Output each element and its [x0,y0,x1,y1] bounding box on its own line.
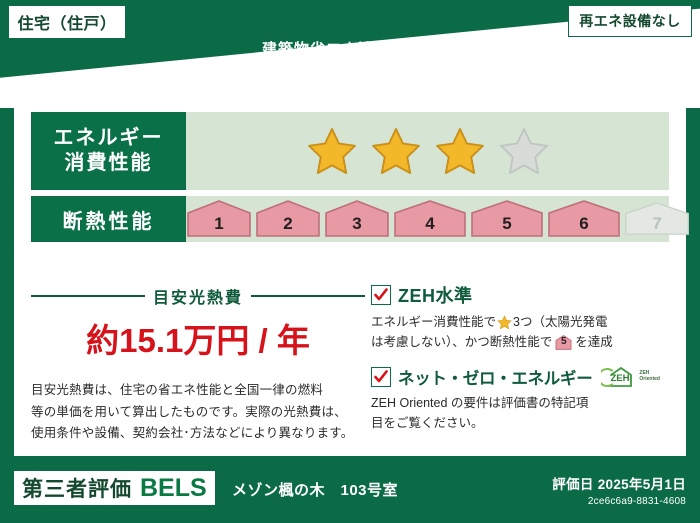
badge-renewable-equipment: 再エネ設備なし [568,5,692,37]
utility-cost-heading-text: 目安光熱費 [153,284,243,308]
evaluation-date: 評価日 2025年5月1日 [552,473,686,493]
heading-rule-left [31,295,145,297]
insulation-level-7: 7 [624,199,690,239]
zeh-standard-title: ZEH水準 [398,282,473,308]
energy-performance-label: エネルギー 消費性能 [31,112,186,190]
utility-cost-note-line-2: 等の単価を用いて算出したものです。実際の光熱費は、 [31,402,365,424]
utility-cost-note: 目安光熱費は、住宅の省エネ性能と全国一律の燃料 等の単価を用いて算出したものです… [31,380,365,445]
star-rating [306,126,550,176]
zeh-column: ZEH水準 エネルギー消費性能で 3つ（太陽光発電 は考慮しない）、かつ断熱性能… [371,282,665,445]
insulation-level-5-icon: 5 [555,335,572,350]
insulation-level-scale: 1234567 [186,199,690,239]
insulation-level-2: 2 [255,199,321,239]
net-zero-energy-body-line-1: ZEH Oriented の要件は評価書の特記項 [371,393,665,413]
zeh-standard-text-b2: を達成 [575,332,613,352]
zeh-standard-body: エネルギー消費性能で 3つ（太陽光発電 は考慮しない）、かつ断熱性能で [371,312,665,353]
insulation-level-5-number: 5 [555,334,572,350]
footer-meta: 評価日 2025年5月1日 2ce6c6a9-8831-4608 [552,473,686,507]
star-icon-filled [434,126,486,176]
zeh-logo-caption: ZEH Oriented [639,371,660,382]
insulation-level-3: 3 [324,199,390,239]
star-icon [497,315,512,330]
net-zero-energy-title: ネット・ゼロ・エネルギー [398,365,592,389]
zeh-standard-body-line-2: は考慮しない）、かつ断熱性能で 5 を達成 [371,332,665,352]
insulation-rating-container: 1234567 [186,196,690,242]
zeh-standard-body-line-1: エネルギー消費性能で 3つ（太陽光発電 [371,312,665,332]
insulation-level-number: 3 [324,214,390,234]
energy-label-line1: エネルギー [54,126,164,151]
net-zero-energy-body-line-2: 目をご覧ください。 [371,413,665,433]
insulation-level-number: 6 [547,214,621,234]
heading-rule-right [251,295,365,297]
svg-text:ZEH: ZEH [611,373,630,384]
evaluation-id: 2ce6c6a9-8831-4608 [552,496,686,507]
utility-cost-heading: 目安光熱費 [31,284,365,308]
zeh-standard-text-a2: 3つ（太陽光発電 [513,312,607,332]
net-zero-energy-block: ネット・ゼロ・エネルギー ZEH ZEH Oriented [371,365,665,434]
bels-energy-label: 建築物省エネ法に基づく 省エネ性能ラベル 住宅（住戸） 再エネ設備なし エネルギ… [0,0,700,523]
label-footer: 第三者評価 BELS メゾン楓の木 103号室 評価日 2025年5月1日 2c… [0,463,700,523]
star-icon-filled [306,126,358,176]
insulation-level-number: 5 [470,214,544,234]
utility-cost-column: 目安光熱費 約15.1万円 / 年 目安光熱費は、住宅の省エネ性能と全国一律の燃… [31,282,371,445]
zeh-logo-caption-line-2: Oriented [639,376,660,382]
lower-columns: 目安光熱費 約15.1万円 / 年 目安光熱費は、住宅の省エネ性能と全国一律の燃… [31,282,671,445]
zeh-standard-text-b1: は考慮しない）、かつ断熱性能で [371,332,552,352]
zeh-standard-heading: ZEH水準 [371,282,665,308]
check-icon [373,369,389,385]
utility-cost-value: 約15.1万円 / 年 [31,314,365,362]
energy-performance-row: エネルギー 消費性能 [31,112,669,190]
zeh-house-icon: ZEH [601,366,637,388]
net-zero-energy-body: ZEH Oriented の要件は評価書の特記項 目をご覧ください。 [371,393,665,434]
insulation-level-6: 6 [547,199,621,239]
check-icon [373,287,389,303]
zeh-standard-block: ZEH水準 エネルギー消費性能で 3つ（太陽光発電 は考慮しない）、かつ断熱性能… [371,282,665,353]
utility-cost-note-line-3: 使用条件や設備、契約会社･方法などにより異なります。 [31,423,365,445]
utility-cost-note-line-1: 目安光熱費は、住宅の省エネ性能と全国一律の燃料 [31,380,365,402]
net-zero-energy-checkbox[interactable] [371,367,391,387]
bels-badge: 第三者評価 BELS [14,471,215,505]
energy-label-line2: 消費性能 [65,151,153,176]
insulation-level-number: 4 [393,214,467,234]
third-party-evaluation-text: 第三者評価 [22,473,132,503]
insulation-performance-row: 断熱性能 1234567 [31,196,669,242]
badge-building-type: 住宅（住戸） [8,5,126,39]
insulation-level-number: 2 [255,214,321,234]
net-zero-energy-heading: ネット・ゼロ・エネルギー ZEH ZEH Oriented [371,365,665,389]
insulation-level-number: 1 [186,214,252,234]
insulation-label-text: 断熱性能 [63,205,155,234]
performance-section: エネルギー 消費性能 断熱性能 1234567 [31,112,669,248]
star-icon-empty [498,126,550,176]
star-icon-filled [370,126,422,176]
zeh-standard-checkbox[interactable] [371,285,391,305]
label-body-card: エネルギー 消費性能 断熱性能 1234567 [14,104,686,456]
insulation-level-1: 1 [186,199,252,239]
property-name: メゾン楓の木 103号室 [232,479,398,500]
energy-rating-stars-container [186,112,669,190]
insulation-level-4: 4 [393,199,467,239]
insulation-performance-label: 断熱性能 [31,196,186,242]
bels-wordmark: BELS [140,474,207,503]
insulation-level-5: 5 [470,199,544,239]
zeh-logo: ZEH ZEH Oriented [601,366,660,388]
insulation-level-number: 7 [624,214,690,234]
zeh-standard-text-a1: エネルギー消費性能で [371,312,496,332]
